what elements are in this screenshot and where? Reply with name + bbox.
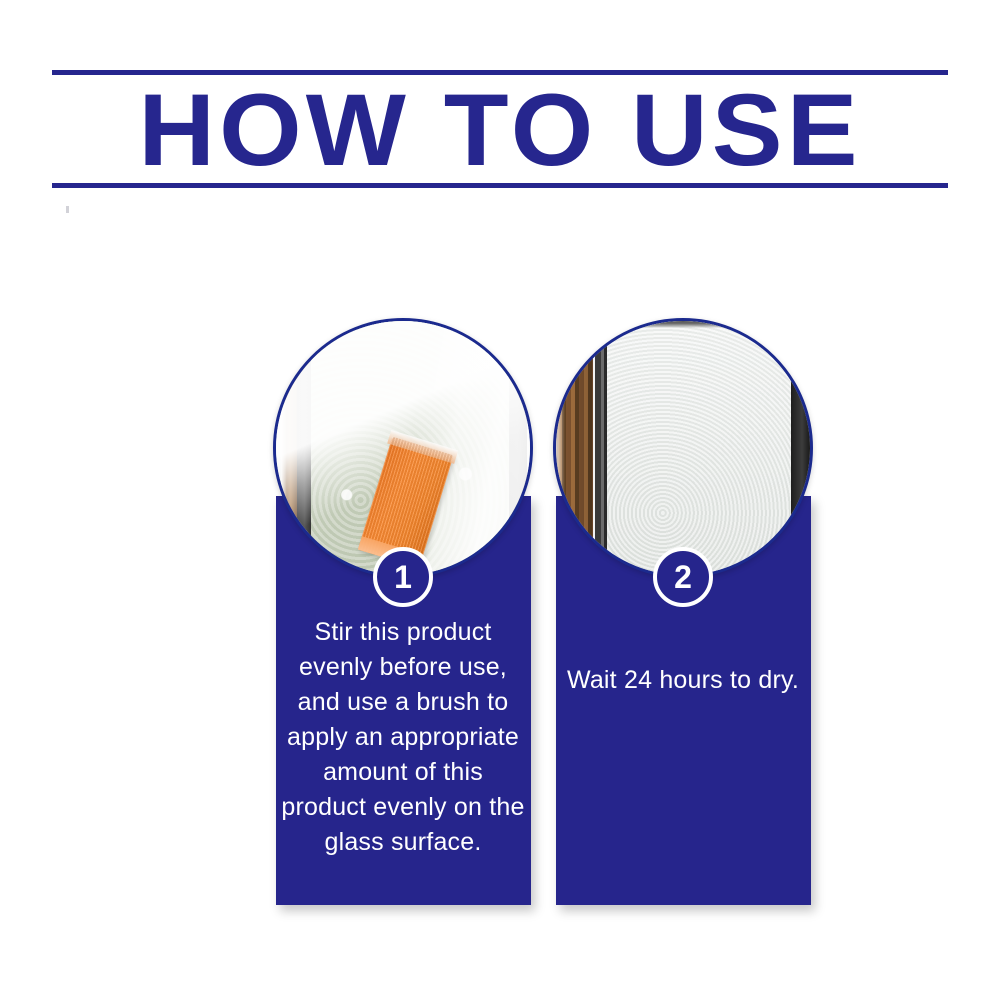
glass-top-shadow [607,318,793,328]
wood-blind-shading [553,318,593,578]
header: HOW TO USE [52,70,948,190]
window-frame-right [791,318,811,578]
step-1-number-badge: 1 [373,547,433,607]
step-2-photo [553,318,813,578]
frosted-glass-pane [607,318,793,578]
header-rule-bottom [52,183,948,188]
step-2-caption: Wait 24 hours to dry. [561,663,805,698]
steps-container: 1 Stir this product evenly before use, a… [0,318,1000,918]
step-card-1: 1 Stir this product evenly before use, a… [273,318,533,908]
step-card-2: 2 Wait 24 hours to dry. [553,318,813,908]
step-2-number-badge: 2 [653,547,713,607]
step-1-caption: Stir this product evenly before use, and… [281,615,525,860]
corner-tick-mark [66,206,69,213]
how-to-use-infographic: HOW TO USE [0,0,1000,1000]
window-mullion [593,318,607,578]
brush-on-window-image [273,318,533,578]
step-1-photo [273,318,533,578]
frosted-window-image [553,318,813,578]
page-title: HOW TO USE [34,80,966,180]
